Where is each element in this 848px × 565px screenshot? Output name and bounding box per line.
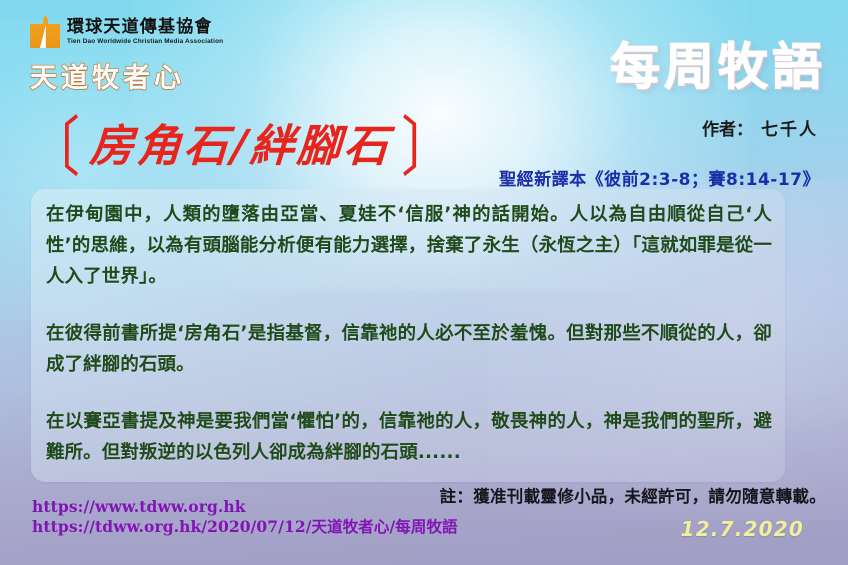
author-label: 作者： bbox=[702, 115, 753, 140]
org-name-chinese: 環球天道傳基協會 bbox=[67, 19, 223, 36]
headline-bracket-open: 〔 bbox=[28, 95, 80, 189]
body-paragraph: 在以賽亞書提及神是要我們當‘懼怕’的，信靠祂的人，敬畏神的人，神是我們的聖所，避… bbox=[46, 406, 772, 468]
article-url-link[interactable]: https://tdww.org.hk/2020/07/12/天道牧者心/每周牧… bbox=[32, 517, 458, 537]
publish-date: 12.7.2020 bbox=[681, 517, 804, 541]
candle-sailboat-logo-icon bbox=[30, 16, 60, 48]
site-url-link[interactable]: https://www.tdww.org.hk bbox=[32, 497, 458, 517]
headline-text: 房角石/絆腳石 bbox=[78, 110, 402, 174]
author-name: 七千人 bbox=[761, 115, 818, 140]
scripture-reference: 聖經新譯本《彼前2:3-8；賽8:14-17》 bbox=[499, 165, 820, 190]
weekly-series-title: 每周牧語 bbox=[610, 27, 826, 99]
slide-canvas: 環球天道傳基協會 Tien Dao Worldwide Christian Me… bbox=[0, 0, 848, 565]
article-body: 在伊甸園中，人類的墮落由亞當、夏娃不‘信服’神的話開始。人以為自由順從自己‘人性… bbox=[46, 199, 772, 468]
organization-logo: 環球天道傳基協會 Tien Dao Worldwide Christian Me… bbox=[30, 16, 223, 48]
copyright-note: 註：獲准刊載靈修小品，未經許可，請勿隨意轉載。 bbox=[440, 483, 826, 507]
article-headline: 〔 房角石/絆腳石 〕 bbox=[28, 104, 453, 179]
brand-subtitle: 天道牧者心 bbox=[30, 56, 185, 95]
headline-bracket-close: 〕 bbox=[401, 95, 453, 189]
body-paragraph: 在彼得前書所提‘房角石’是指基督，信靠祂的人必不至於羞愧。但對那些不順從的人，卻… bbox=[46, 318, 772, 380]
org-name-english: Tien Dao Worldwide Christian Media Assoc… bbox=[67, 39, 223, 45]
author-line: 作者： 七千人 bbox=[702, 115, 818, 140]
body-paragraph: 在伊甸園中，人類的墮落由亞當、夏娃不‘信服’神的話開始。人以為自由順從自己‘人性… bbox=[46, 199, 772, 292]
logo-wordmark: 環球天道傳基協會 Tien Dao Worldwide Christian Me… bbox=[67, 19, 223, 45]
url-block: https://www.tdww.org.hk https://tdww.org… bbox=[32, 497, 458, 537]
